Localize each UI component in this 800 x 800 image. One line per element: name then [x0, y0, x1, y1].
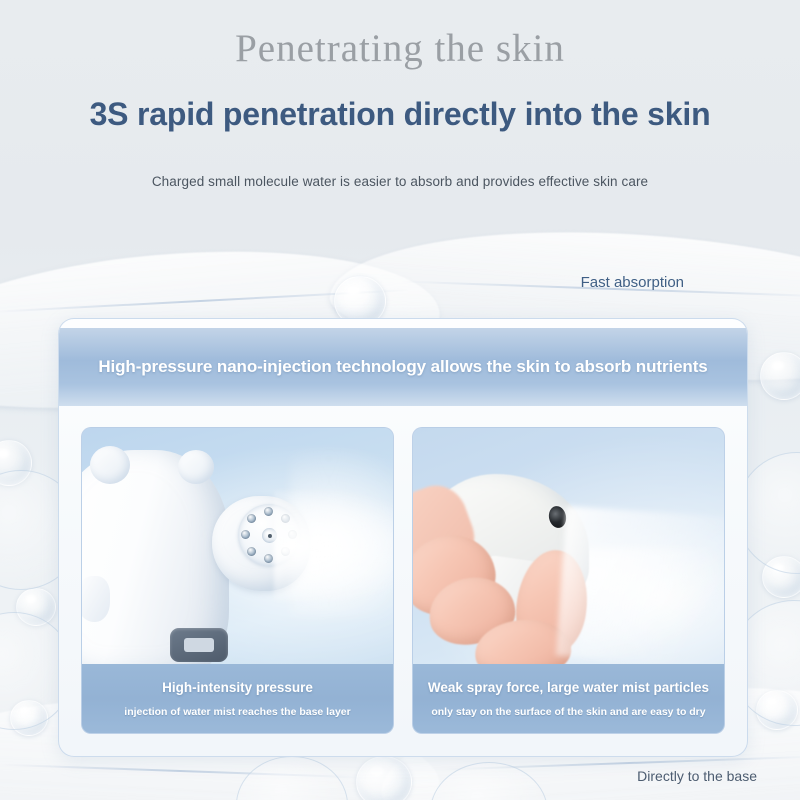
kicker-title: Penetrating the skin: [0, 26, 800, 71]
water-bubble-ring: [236, 756, 348, 800]
water-bubble: [10, 700, 48, 736]
nozzle-port: [241, 530, 250, 539]
water-bubble: [16, 588, 56, 626]
caption-title: High-intensity pressure: [162, 680, 313, 695]
product-photo-trigger-sprayer: [413, 428, 724, 666]
page-subtitle: Charged small molecule water is easier t…: [0, 174, 800, 189]
caption-subtitle: only stay on the surface of the skin and…: [431, 706, 705, 718]
spray-jet-coarse: [556, 506, 724, 666]
panel-high-intensity[interactable]: High-intensity pressure injection of wat…: [81, 427, 394, 734]
comparison-panels: High-intensity pressure injection of wat…: [81, 427, 725, 734]
card-header-band: High-pressure nano-injection technology …: [59, 328, 747, 406]
panel-caption-left: High-intensity pressure injection of wat…: [82, 664, 393, 733]
comparison-card: High-pressure nano-injection technology …: [58, 318, 748, 757]
water-bubble-ring: [430, 762, 548, 800]
nozzle-port: [247, 514, 256, 523]
product-marketing-poster: Penetrating the skin 3S rapid penetratio…: [0, 0, 800, 800]
caption-title: Weak spray force, large water mist parti…: [428, 680, 709, 695]
water-bubble: [756, 690, 798, 730]
product-photo-nano-sprayer: [82, 428, 393, 666]
water-bubble: [356, 756, 412, 800]
panel-weak-spray[interactable]: Weak spray force, large water mist parti…: [412, 427, 725, 734]
water-bubble: [762, 556, 800, 598]
mist-jet-fine: [274, 490, 393, 602]
water-streak: [0, 289, 410, 313]
nozzle-port: [264, 554, 273, 563]
bear-ear-left: [90, 446, 130, 484]
nozzle-port: [247, 547, 256, 556]
caption-subtitle: injection of water mist reaches the base…: [124, 706, 350, 718]
water-bubble: [760, 352, 800, 400]
panel-caption-right: Weak spray force, large water mist parti…: [413, 664, 724, 733]
label-directly-to-base: Directly to the base: [637, 768, 757, 784]
water-bubble: [0, 440, 32, 486]
page-title: 3S rapid penetration directly into the s…: [0, 96, 800, 133]
label-fast-absorption: Fast absorption: [581, 274, 684, 291]
bear-paw: [82, 576, 110, 622]
water-streak: [0, 764, 360, 779]
nozzle-port: [264, 507, 273, 516]
card-header-text: High-pressure nano-injection technology …: [98, 357, 707, 377]
bear-ear-right: [178, 450, 214, 484]
device-button-pad: [170, 628, 228, 662]
